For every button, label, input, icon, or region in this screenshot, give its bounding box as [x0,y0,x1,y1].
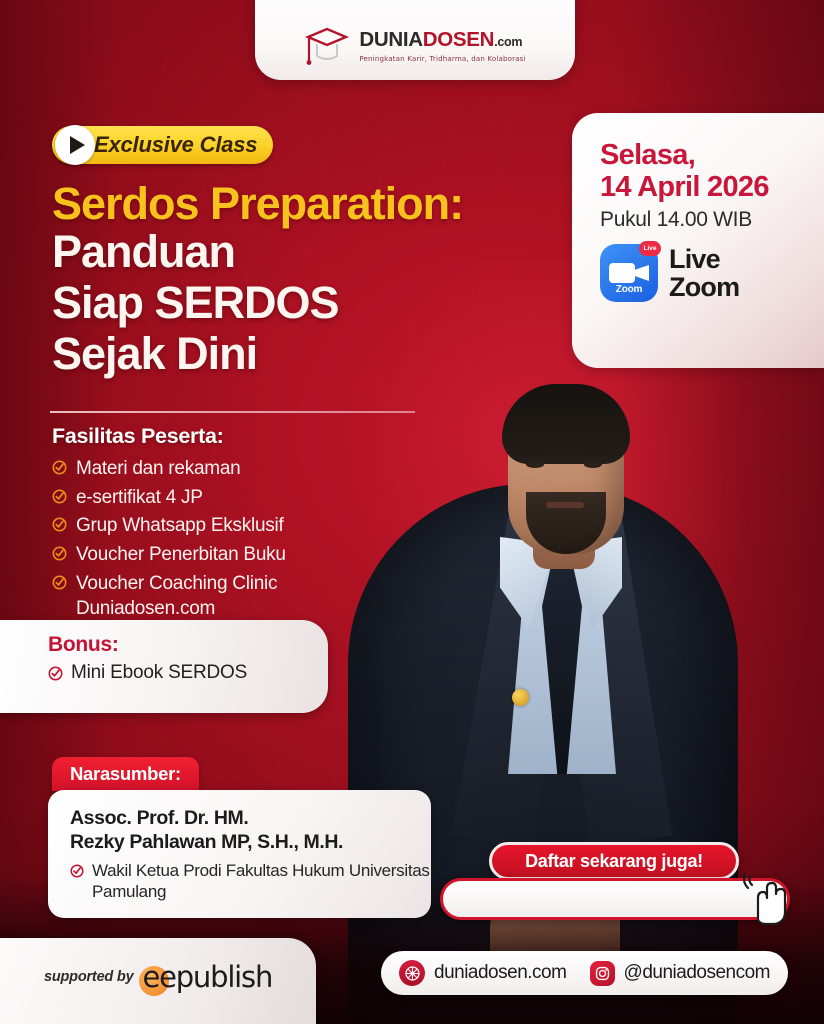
facility-item: Voucher Penerbitan Buku [52,542,412,568]
live-badge: Live [639,241,661,256]
logo-text-com: .com [494,35,522,49]
headline-line-1: Serdos Preparation: [52,180,552,227]
schedule-time: Pukul 14.00 WIB [600,208,824,232]
website-label[interactable]: duniadosen.com [434,962,566,984]
instagram-icon [590,961,615,986]
speaker-tab-label: Narasumber: [70,763,181,785]
exclusive-class-label: Exclusive Class [94,132,257,158]
speaker-role: Wakil Ketua Prodi Fakultas Hukum Univers… [92,860,431,902]
exclusive-class-badge: Exclusive Class [52,126,273,164]
logo-text-dosen: DOSEN [423,28,494,51]
section-divider [50,411,415,413]
zoom-icon: Zoom Live [600,244,658,302]
speaker-tab: Narasumber: [52,757,199,791]
globe-icon [399,960,425,986]
speaker-name-line-1: Assoc. Prof. Dr. HM. [70,806,431,830]
photo-eye-right [584,461,602,468]
graduation-cap-icon [304,26,350,66]
speaker-name-line-2: Rezky Pahlawan MP, S.H., M.H. [70,830,431,854]
headline-line-2: Panduan [52,227,552,278]
supported-by-label: supported by [44,969,133,985]
deepublish-name: eepublish [142,960,272,994]
check-circle-icon [52,489,67,504]
schedule-date: 14 April 2026 [600,171,824,203]
schedule-card: Selasa, 14 April 2026 Pukul 14.00 WIB Zo… [572,113,824,368]
facilities-title: Fasilitas Peserta: [52,424,412,449]
supported-by-card: supported by eepublish [0,938,316,1024]
facility-item: Materi dan rekaman [52,456,412,482]
check-circle-icon [48,666,63,681]
register-button[interactable]: Daftar sekarang juga! [489,842,739,880]
check-circle-icon [52,575,67,590]
headline-line-3: Siap SERDOS [52,278,552,329]
speaker-card: Assoc. Prof. Dr. HM. Rezky Pahlawan MP, … [48,790,431,918]
facility-label: Voucher Penerbitan Buku [76,542,286,568]
headline-block: Serdos Preparation: Panduan Siap SERDOS … [52,180,552,380]
schedule-day: Selasa, [600,139,824,171]
facility-item: Voucher Coaching Clinic Duniadosen.com [52,571,412,622]
platform-line-1: Live [669,245,739,273]
bonus-title: Bonus: [48,633,328,657]
speaker-role-row: Wakil Ketua Prodi Fakultas Hukum Univers… [70,860,431,902]
hand-cursor-icon [742,872,792,928]
social-bar: duniadosen.com @duniadosencom [381,951,788,995]
facility-label: Materi dan rekaman [76,456,240,482]
check-circle-icon [52,517,67,532]
register-button-label: Daftar sekarang juga! [525,851,703,872]
zoom-icon-label: Zoom [600,284,658,295]
photo-lapel-pin [512,689,529,706]
register-link-field[interactable] [440,878,790,920]
bonus-card: Bonus: Mini Ebook SERDOS [0,620,328,713]
platform-line-2: Zoom [669,273,739,301]
facility-label: Voucher Coaching Clinic Duniadosen.com [76,571,412,622]
check-circle-icon [70,864,84,878]
bonus-item: Mini Ebook SERDOS [48,662,328,684]
instagram-label[interactable]: @duniadosencom [624,962,770,984]
logo-tagline: Peningkatan Karir, Tridharma, dan Kolabo… [359,55,525,62]
bonus-label: Mini Ebook SERDOS [71,662,247,684]
check-circle-icon [52,460,67,475]
photo-mouth [546,502,584,508]
facility-item: Grup Whatsapp Eksklusif [52,513,412,539]
promo-poster: DUNIADOSEN.com Peningkatan Karir, Tridha… [0,0,824,1024]
headline-line-4: Sejak Dini [52,329,552,380]
facility-label: e-sertifikat 4 JP [76,485,203,511]
play-icon [55,125,95,165]
deepublish-logo: eepublish [142,960,272,994]
logo-text-dunia: DUNIA [359,28,422,51]
facility-item: e-sertifikat 4 JP [52,485,412,511]
brand-logo-card: DUNIADOSEN.com Peningkatan Karir, Tridha… [255,0,575,80]
facility-label: Grup Whatsapp Eksklusif [76,513,284,539]
facilities-block: Fasilitas Peserta: Materi dan rekaman e-… [52,424,412,625]
photo-eye-left [526,461,544,468]
check-circle-icon [52,546,67,561]
